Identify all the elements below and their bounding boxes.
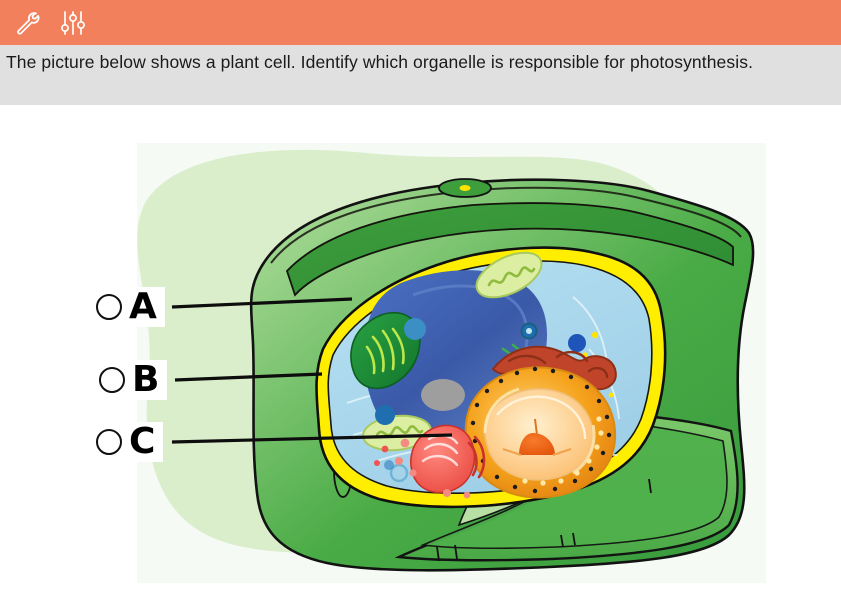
wrench-tool-button[interactable]: [10, 6, 44, 40]
radio-option-c[interactable]: [96, 429, 122, 455]
option-b[interactable]: B: [99, 358, 167, 402]
answer-options: A B C: [0, 105, 841, 611]
wrench-icon: [14, 10, 40, 36]
quiz-screen: The picture below shows a plant cell. Id…: [0, 0, 841, 611]
option-c-label: C: [124, 422, 163, 462]
question-text: The picture below shows a plant cell. Id…: [6, 49, 833, 75]
option-b-label: B: [127, 360, 167, 400]
settings-sliders-tool-button[interactable]: [56, 6, 90, 40]
toolbar: [0, 0, 841, 45]
option-a-label: A: [124, 287, 165, 327]
sliders-icon: [61, 10, 85, 36]
radio-option-a[interactable]: [96, 294, 122, 320]
option-c[interactable]: C: [96, 420, 163, 464]
radio-option-b[interactable]: [99, 367, 125, 393]
option-a[interactable]: A: [96, 285, 165, 329]
question-band: The picture below shows a plant cell. Id…: [0, 45, 841, 105]
